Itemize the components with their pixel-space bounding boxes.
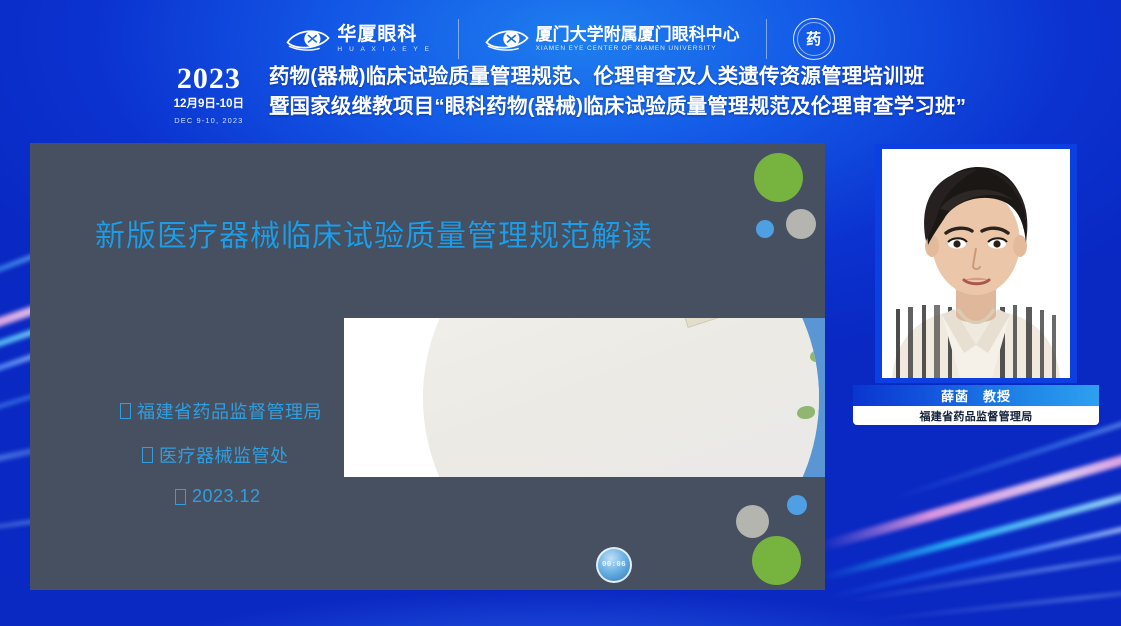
decor-circle-blue-top [756,220,774,238]
seal-character: 药 [806,32,821,47]
logo-huaxia-en: H U A X I A E Y E [337,47,431,54]
bullet-marker-icon [142,447,153,463]
speaker-title: 教授 [983,386,1011,405]
logo-xiamen-cn: 厦门大学附属厦门眼科中心 [536,26,740,43]
timer-badge-label: 00:06 [602,561,626,569]
bullet-marker-icon [175,489,186,505]
event-year: 2023 [155,64,263,94]
decor-circle-green-top [754,153,803,202]
broadcast-screen: 华厦眼科 H U A X I A E Y E 厦门大学附属厦门眼科中心 [0,0,1121,626]
leaf-decor [810,350,819,362]
logo-huaxia-text: 华厦眼科 H U A X I A E Y E [337,25,431,54]
logo-xiamen-text: 厦门大学附属厦门眼科中心 XIAMEN EYE CENTER OF XIAMEN… [536,26,740,53]
logo-huaxia-cn: 华厦眼科 [337,25,431,44]
presentation-slide[interactable]: 新版医疗器械临床试验质量管理规范解读 [30,143,825,590]
cover-photo-circle [423,318,819,477]
event-date-en: DEC 9-10, 2023 [155,116,263,125]
event-title-line2: 暨国家级继教项目“眼科药物(器械)临床试验质量管理规范及伦理审查学习班” [269,92,966,122]
speaker-affiliation-row: 福建省药品监督管理局 [853,406,1099,425]
event-title-line1: 药物(器械)临床试验质量管理规范、伦理审查及人类遗传资源管理培训班 [269,62,966,92]
event-date-cn: 12月9日-10日 [155,99,263,111]
timer-badge: 00:06 [596,547,632,583]
list-item-label: 福建省药品监督管理局 [137,398,322,424]
speaker-photo [882,149,1070,378]
decor-circle-blue-bottom [787,495,807,515]
logo-xiamen-en: XIAMEN EYE CENTER OF XIAMEN UNIVERSITY [536,46,740,53]
eye-icon [286,26,330,53]
seal-icon: 药 [793,18,835,60]
logo-row: 华厦眼科 H U A X I A E Y E 厦门大学附属厦门眼科中心 [0,16,1121,62]
speaker-name-row: 薛菡 教授 [853,385,1099,406]
logo-pharma-seal: 药 [767,18,861,60]
list-item-label: 2023.12 [192,486,261,507]
logo-huaxia-eye: 华厦眼科 H U A X I A E Y E [260,25,457,54]
list-item: 福建省药品监督管理局 [120,398,322,424]
eye-icon [485,26,529,53]
event-title-block: 2023 12月9日-10日 DEC 9-10, 2023 药物(器械)临床试验… [0,62,1121,125]
decor-circle-gray-top [786,209,816,239]
speaker-name: 薛菡 [941,386,969,405]
decor-circle-green-bottom [752,536,801,585]
speaker-nameplate: 薛菡 教授 福建省药品监督管理局 [853,385,1099,425]
speaker-panel: 薛菡 教授 福建省药品监督管理局 [875,144,1077,427]
event-title-lines: 药物(器械)临床试验质量管理规范、伦理审查及人类遗传资源管理培训班 暨国家级继教… [263,62,966,122]
decor-circle-gray-bottom [736,505,769,538]
slide-cover-image [344,318,825,477]
bullet-marker-icon [120,403,131,419]
avatar [882,149,1070,378]
list-item: 2023.12 [120,486,322,507]
list-item: 医疗器械监管处 [120,442,322,468]
logo-xiamen-eye-center: 厦门大学附属厦门眼科中心 XIAMEN EYE CENTER OF XIAMEN… [459,26,766,53]
speaker-video-frame[interactable] [875,144,1077,383]
list-item-label: 医疗器械监管处 [159,442,289,468]
slide-title: 新版医疗器械临床试验质量管理规范解读 [95,211,653,255]
event-header: 华厦眼科 H U A X I A E Y E 厦门大学附属厦门眼科中心 [0,0,1121,142]
speaker-affiliation: 福建省药品监督管理局 [920,408,1033,424]
slide-bullet-list: 福建省药品监督管理局 医疗器械监管处 2023.12 [120,398,322,507]
event-date: 2023 12月9日-10日 DEC 9-10, 2023 [155,62,263,125]
leaf-decor [797,406,815,419]
